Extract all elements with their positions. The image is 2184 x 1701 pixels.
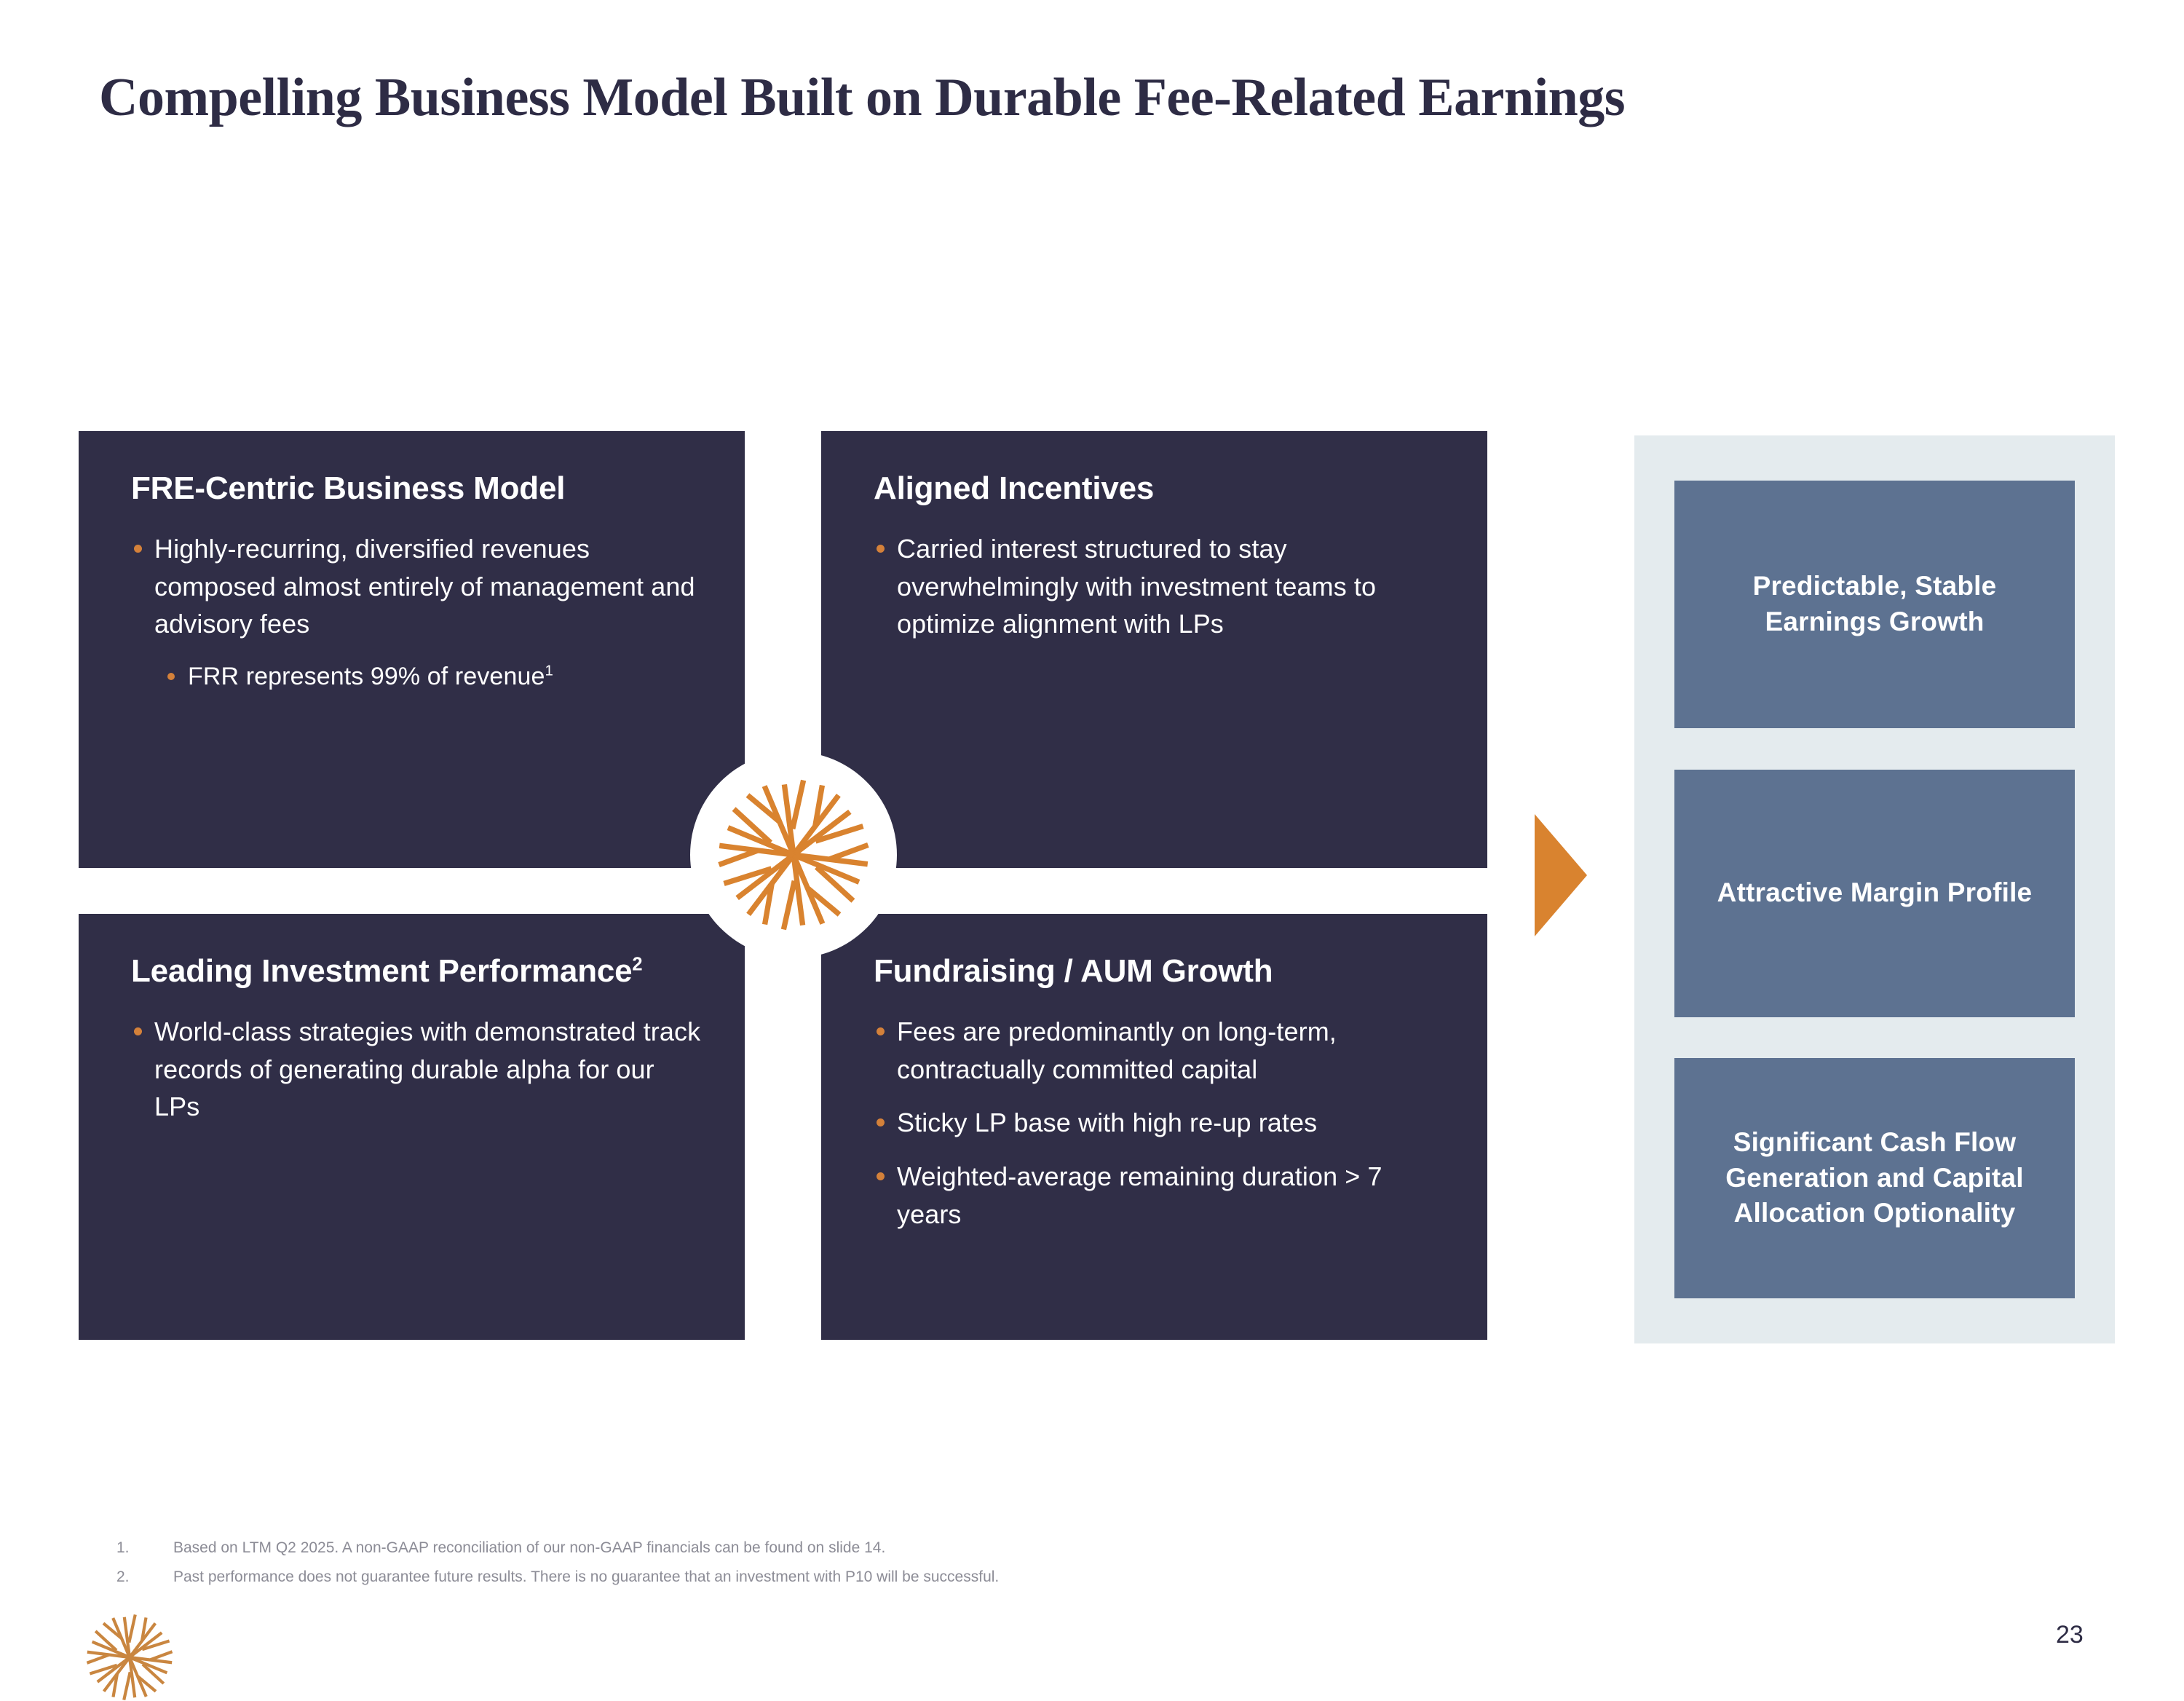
quadrant-heading-text: FRE-Centric Business Model	[131, 470, 565, 506]
pinwheel-starburst-icon	[86, 1614, 173, 1701]
quadrant-heading-text: Fundraising / AUM Growth	[874, 953, 1273, 989]
bullet-text: Sticky LP base with high re-up rates	[897, 1108, 1317, 1137]
footnote-marker: 2	[632, 954, 642, 974]
quadrant-aligned-incentives: Aligned Incentives Carried interest stru…	[821, 431, 1487, 868]
quadrant-heading: Fundraising / AUM Growth	[874, 952, 1445, 991]
bullet-text: Fees are predominantly on long-term, con…	[897, 1017, 1337, 1084]
outcome-box-significant-cash-flow-generation: Significant Cash Flow Generation and Cap…	[1674, 1058, 2075, 1298]
quadrant-fundraising-aum-growth: Fundraising / AUM Growth Fees are predom…	[821, 914, 1487, 1340]
outcome-label: Predictable, Stable Earnings Growth	[1692, 569, 2057, 640]
outcome-box-attractive-margin-profile: Attractive Margin Profile	[1674, 770, 2075, 1017]
quadrant-fre-centric-business-model: FRE-Centric Business Model Highly-recurr…	[79, 431, 745, 868]
right-triangle-arrow-icon	[1535, 814, 1587, 936]
bullet-list: Carried interest structured to stay over…	[874, 530, 1445, 643]
bullet-list: World-class strategies with demonstrated…	[131, 1013, 703, 1126]
center-logo-medallion	[690, 751, 897, 958]
list-item: Fees are predominantly on long-term, con…	[874, 1013, 1445, 1089]
bullet-text: Highly-recurring, diversified revenues c…	[154, 534, 695, 639]
quadrant-heading: Leading Investment Performance2	[131, 952, 703, 991]
list-item: Carried interest structured to stay over…	[874, 530, 1445, 643]
quadrant-leading-investment-performance: Leading Investment Performance2 World-cl…	[79, 914, 745, 1340]
outcome-label: Significant Cash Flow Generation and Cap…	[1692, 1125, 2057, 1231]
list-item: Sticky LP base with high re-up rates	[874, 1104, 1445, 1142]
quadrant-heading: FRE-Centric Business Model	[131, 469, 703, 508]
quadrant-heading-text: Aligned Incentives	[874, 470, 1154, 506]
footnote-text: Past performance does not guarantee futu…	[173, 1563, 1718, 1592]
footnote-number: 1.	[116, 1534, 173, 1563]
footnote-marker: 1	[545, 663, 553, 679]
footnote-row: 2. Past performance does not guarantee f…	[116, 1563, 1718, 1592]
footnote-number: 2.	[116, 1563, 173, 1592]
bullet-sub-text: FRR represents 99% of revenue	[188, 663, 545, 690]
bullet-list: Highly-recurring, diversified revenues c…	[131, 530, 703, 695]
footnote-text: Based on LTM Q2 2025. A non-GAAP reconci…	[173, 1534, 1718, 1563]
list-item-sub: FRR represents 99% of revenue1	[165, 659, 703, 695]
bullet-text: World-class strategies with demonstrated…	[154, 1017, 700, 1122]
list-item: Weighted-average remaining duration > 7 …	[874, 1158, 1445, 1234]
bullet-text: Weighted-average remaining duration > 7 …	[897, 1161, 1382, 1229]
outcomes-panel: Predictable, Stable Earnings Growth Attr…	[1634, 435, 2115, 1343]
footer-logo	[86, 1614, 173, 1701]
outcome-label: Attractive Margin Profile	[1717, 875, 2033, 911]
outcome-box-predictable-stable-earnings-growth: Predictable, Stable Earnings Growth	[1674, 481, 2075, 728]
quadrant-heading-text: Leading Investment Performance	[131, 953, 632, 989]
footnotes: 1. Based on LTM Q2 2025. A non-GAAP reco…	[116, 1534, 1718, 1592]
pinwheel-starburst-icon	[717, 778, 870, 931]
bullet-list: Fees are predominantly on long-term, con…	[874, 1013, 1445, 1234]
bullet-text: Carried interest structured to stay over…	[897, 534, 1376, 639]
page-title: Compelling Business Model Built on Durab…	[99, 67, 1625, 129]
quadrant-heading: Aligned Incentives	[874, 469, 1445, 508]
footnote-row: 1. Based on LTM Q2 2025. A non-GAAP reco…	[116, 1534, 1718, 1563]
list-item: World-class strategies with demonstrated…	[131, 1013, 703, 1126]
list-item: Highly-recurring, diversified revenues c…	[131, 530, 703, 643]
page-number: 23	[2056, 1621, 2084, 1649]
